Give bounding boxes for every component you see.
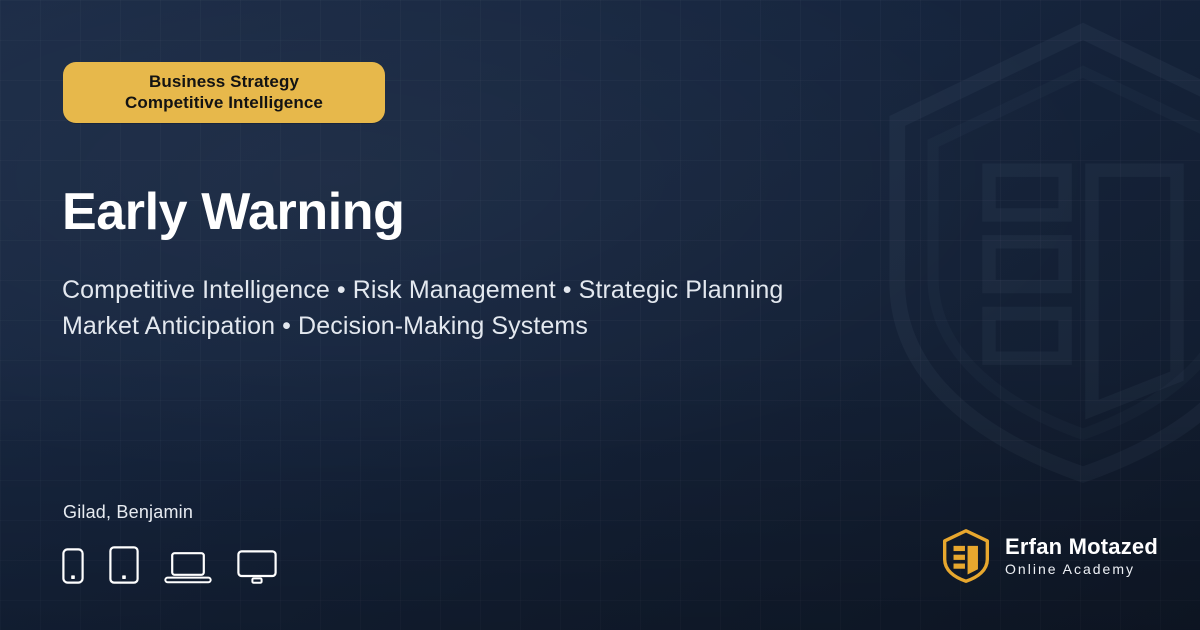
brand-name: Erfan Motazed xyxy=(1005,533,1158,560)
brand-logo: Erfan Motazed Online Academy xyxy=(940,528,1158,584)
device-availability-row xyxy=(62,546,277,584)
brand-text-block: Erfan Motazed Online Academy xyxy=(1005,533,1158,579)
laptop-icon xyxy=(164,550,212,584)
tablet-icon xyxy=(109,546,139,584)
author-name: Gilad, Benjamin xyxy=(63,500,193,524)
category-badge: Business Strategy Competitive Intelligen… xyxy=(63,62,385,123)
topics-subtitle: Competitive Intelligence • Risk Manageme… xyxy=(62,272,783,344)
phone-icon xyxy=(62,548,84,584)
brand-tagline: Online Academy xyxy=(1005,560,1158,579)
desktop-icon xyxy=(237,550,277,584)
book-title: Early Warning xyxy=(62,182,405,242)
category-badge-line-1: Business Strategy xyxy=(79,71,369,92)
book-cover-card: Business Strategy Competitive Intelligen… xyxy=(0,0,1200,630)
shield-em-monogram-watermark-icon xyxy=(848,18,1200,488)
shield-em-monogram-icon xyxy=(940,528,992,584)
category-badge-line-2: Competitive Intelligence xyxy=(79,92,369,113)
topics-subtitle-line-1: Competitive Intelligence • Risk Manageme… xyxy=(62,272,783,308)
topics-subtitle-line-2: Market Anticipation • Decision-Making Sy… xyxy=(62,308,783,344)
